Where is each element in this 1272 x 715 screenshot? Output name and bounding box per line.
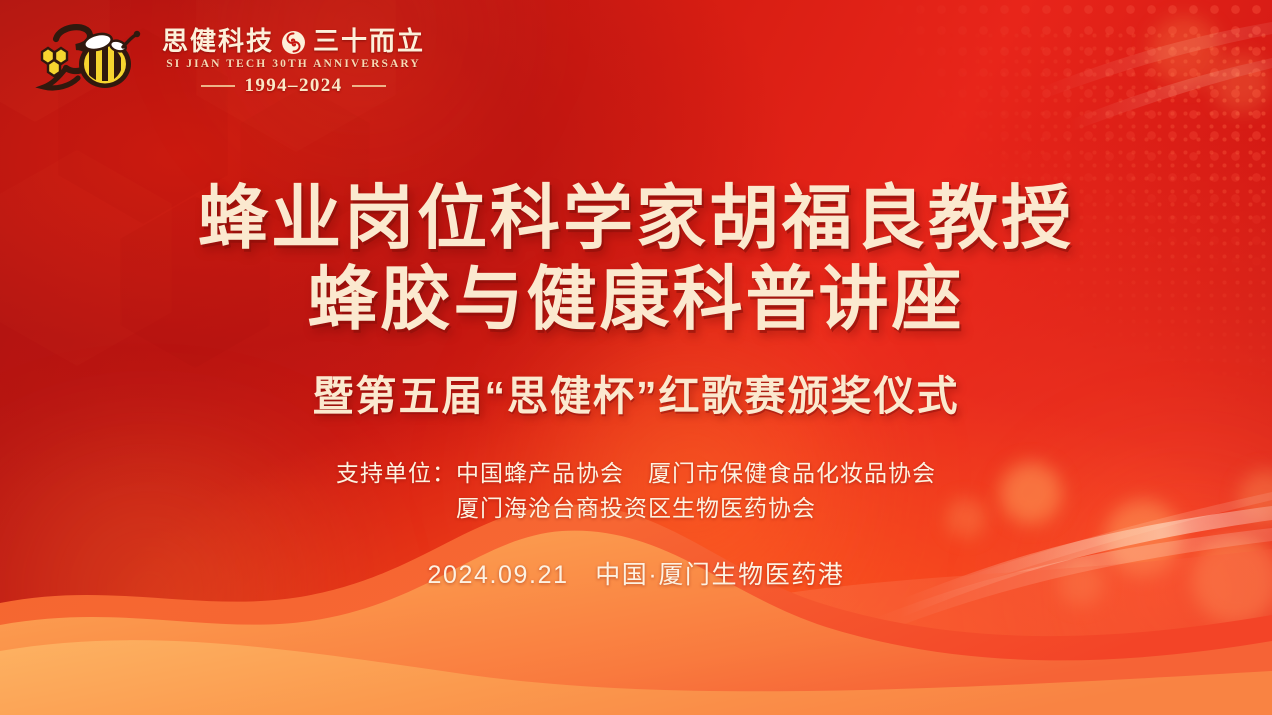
support-line-2: 厦门海沧台商投资区生物医药协会 bbox=[0, 491, 1272, 526]
logo-years: 1994–2024 bbox=[244, 76, 342, 95]
bee-30-anniversary-logo-icon bbox=[26, 16, 148, 108]
logo-rule-right bbox=[352, 85, 386, 87]
page-subtitle: 暨第五届“思健杯”红歌赛颁奖仪式 bbox=[0, 362, 1272, 422]
logo-brand-cn: 思健科技 bbox=[162, 29, 274, 55]
logo-brand-en: SI JIAN TECH 30TH ANNIVERSARY bbox=[166, 58, 421, 70]
date-and-venue: 2024.09.21 中国·厦门生物医药港 bbox=[0, 555, 1272, 591]
event-poster: 思健科技 三十而立 SI JIAN TECH 30TH ANNIVERSARY … bbox=[0, 0, 1272, 715]
support-line-1: 支持单位：中国蜂产品协会 厦门市保健食品化妆品协会 bbox=[0, 456, 1272, 491]
poster-content: 蜂业岗位科学家胡福良教授 蜂胶与健康科普讲座 暨第五届“思健杯”红歌赛颁奖仪式 … bbox=[0, 178, 1272, 591]
title-line-2: 蜂胶与健康科普讲座 bbox=[308, 260, 965, 338]
logo-wordmark: 思健科技 三十而立 SI JIAN TECH 30TH ANNIVERSARY … bbox=[162, 29, 425, 95]
swirl-circle-icon bbox=[281, 30, 306, 55]
supporting-organizations: 支持单位：中国蜂产品协会 厦门市保健食品化妆品协会 厦门海沧台商投资区生物医药协… bbox=[0, 456, 1272, 525]
logo-brand-cn-right: 三十而立 bbox=[313, 29, 425, 55]
logo-rule-left bbox=[201, 85, 235, 87]
brand-logo: 思健科技 三十而立 SI JIAN TECH 30TH ANNIVERSARY … bbox=[26, 16, 425, 108]
title-line-1: 蜂业岗位科学家胡福良教授 bbox=[198, 179, 1074, 257]
logo-years-row: 1994–2024 bbox=[201, 76, 385, 95]
logo-cn-row: 思健科技 三十而立 bbox=[162, 29, 425, 55]
page-title: 蜂业岗位科学家胡福良教授 蜂胶与健康科普讲座 bbox=[0, 178, 1272, 340]
